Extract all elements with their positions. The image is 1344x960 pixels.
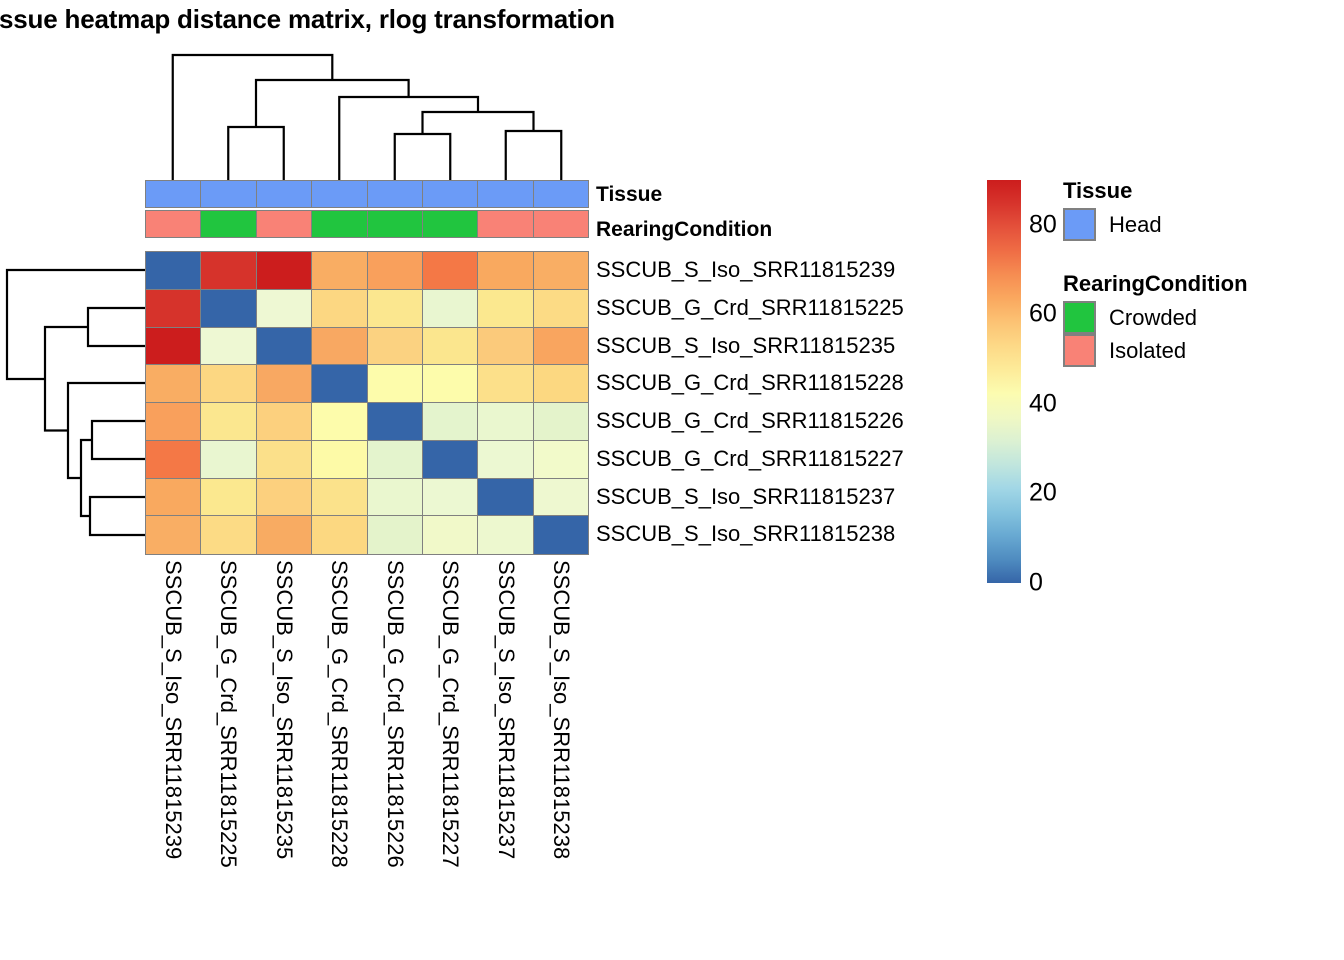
annotation-label-tissue: Tissue — [596, 182, 662, 208]
heatmap-cell — [257, 328, 312, 366]
heatmap-cell — [146, 290, 201, 328]
heatmap-row — [146, 365, 588, 403]
heatmap-cell — [534, 365, 588, 403]
row-label: SSCUB_G_Crd_SRR11815225 — [596, 289, 996, 327]
heatmap-cell — [312, 328, 367, 366]
column-dendrogram — [145, 52, 591, 180]
heatmap-cell — [201, 252, 256, 290]
heatmap-cell — [368, 479, 423, 517]
heatmap-cell — [201, 328, 256, 366]
heatmap-cell — [534, 252, 588, 290]
heatmap-cell — [534, 290, 588, 328]
legend-label: Head — [1109, 212, 1162, 238]
column-label-slot: SSCUB_S_Iso_SRR11815239 — [145, 556, 201, 956]
column-label: SSCUB_S_Iso_SRR11815235 — [271, 560, 297, 859]
annotation-cell-rearing-condition — [534, 211, 588, 237]
heatmap-row — [146, 290, 588, 328]
heatmap-cell — [534, 328, 588, 366]
heatmap-cell — [201, 479, 256, 517]
column-label-slot: SSCUB_G_Crd_SRR11815225 — [201, 556, 257, 956]
column-label-slot: SSCUB_G_Crd_SRR11815228 — [312, 556, 368, 956]
heatmap-cell — [257, 252, 312, 290]
heatmap-cell — [312, 365, 367, 403]
heatmap-cell — [534, 403, 588, 441]
heatmap-cell — [312, 479, 367, 517]
heatmap-matrix — [145, 251, 589, 555]
legend-swatch — [1063, 208, 1096, 241]
annotation-cell-tissue — [534, 181, 588, 207]
legend-title: RearingCondition — [1063, 271, 1333, 297]
heatmap-cell — [146, 365, 201, 403]
heatmap-cell — [368, 365, 423, 403]
heatmap-cell — [257, 403, 312, 441]
annotation-cell-tissue — [312, 181, 367, 207]
annotation-cell-rearing-condition — [312, 211, 367, 237]
annotation-cell-tissue — [201, 181, 256, 207]
heatmap-cell — [146, 328, 201, 366]
heatmap-cell — [257, 290, 312, 328]
legend-label: Crowded — [1109, 305, 1197, 331]
heatmap-cell — [478, 290, 533, 328]
column-label-slot: SSCUB_G_Crd_SRR11815226 — [367, 556, 423, 956]
heatmap-cell — [201, 365, 256, 403]
heatmap-cell — [312, 252, 367, 290]
column-label: SSCUB_S_Iso_SRR11815239 — [160, 560, 186, 859]
colorbar-tick-label: 40 — [1029, 389, 1057, 418]
heatmap-cell — [478, 479, 533, 517]
heatmap-row — [146, 516, 588, 554]
heatmap-row — [146, 252, 588, 290]
legend-entry: Isolated — [1063, 334, 1333, 367]
heatmap-figure: issue heatmap distance matrix, rlog tran… — [0, 0, 1344, 960]
column-label-slot: SSCUB_G_Crd_SRR11815227 — [423, 556, 479, 956]
legend-swatch — [1063, 301, 1096, 334]
colorbar-gradient — [987, 180, 1021, 583]
column-label: SSCUB_S_Iso_SRR11815237 — [493, 560, 519, 859]
heatmap-cell — [201, 290, 256, 328]
column-label-slot: SSCUB_S_Iso_SRR11815238 — [534, 556, 590, 956]
heatmap-cell — [423, 252, 478, 290]
annotation-bars — [145, 180, 589, 240]
legend-title: Tissue — [1063, 178, 1333, 204]
column-label-slot: SSCUB_S_Iso_SRR11815237 — [478, 556, 534, 956]
heatmap-cell — [146, 403, 201, 441]
row-label: SSCUB_S_Iso_SRR11815237 — [596, 478, 996, 516]
annotation-row-tissue — [145, 180, 589, 208]
heatmap-cell — [146, 516, 201, 554]
heatmap-row — [146, 328, 588, 366]
column-label: SSCUB_S_Iso_SRR11815238 — [548, 560, 574, 859]
heatmap-cell — [368, 290, 423, 328]
heatmap-cell — [312, 516, 367, 554]
row-dendrogram — [2, 251, 145, 555]
annotation-cell-rearing-condition — [423, 211, 478, 237]
annotation-cell-tissue — [368, 181, 423, 207]
row-label: SSCUB_S_Iso_SRR11815238 — [596, 515, 996, 553]
heatmap-cell — [423, 365, 478, 403]
heatmap-cell — [478, 252, 533, 290]
row-label: SSCUB_S_Iso_SRR11815235 — [596, 327, 996, 365]
annotation-cell-tissue — [257, 181, 312, 207]
legend-label: Isolated — [1109, 338, 1186, 364]
heatmap-cell — [423, 441, 478, 479]
annotation-cell-rearing-condition — [201, 211, 256, 237]
heatmap-cell — [423, 479, 478, 517]
legend-block: TissueHeadRearingConditionCrowdedIsolate… — [1063, 178, 1333, 367]
annotation-cell-rearing-condition — [478, 211, 533, 237]
heatmap-cell — [146, 441, 201, 479]
heatmap-cell — [478, 328, 533, 366]
column-label: SSCUB_G_Crd_SRR11815228 — [326, 560, 352, 868]
heatmap-cell — [257, 441, 312, 479]
row-label: SSCUB_S_Iso_SRR11815239 — [596, 251, 996, 289]
heatmap-cell — [534, 441, 588, 479]
heatmap-cell — [201, 403, 256, 441]
heatmap-cell — [312, 290, 367, 328]
heatmap-cell — [201, 516, 256, 554]
legend-entry: Head — [1063, 208, 1333, 241]
row-label-list: SSCUB_S_Iso_SRR11815239SSCUB_G_Crd_SRR11… — [596, 251, 996, 553]
colorbar-tick-label: 60 — [1029, 300, 1057, 329]
heatmap-cell — [368, 252, 423, 290]
heatmap-cell — [478, 403, 533, 441]
heatmap-cell — [534, 516, 588, 554]
page-title: issue heatmap distance matrix, rlog tran… — [0, 2, 615, 36]
heatmap-cell — [368, 441, 423, 479]
heatmap-row — [146, 403, 588, 441]
column-label-list: SSCUB_S_Iso_SRR11815239SSCUB_G_Crd_SRR11… — [145, 556, 589, 956]
column-label: SSCUB_G_Crd_SRR11815225 — [215, 560, 241, 868]
heatmap-cell — [257, 479, 312, 517]
annotation-cell-tissue — [146, 181, 201, 207]
annotation-cell-rearing-condition — [146, 211, 201, 237]
column-label: SSCUB_G_Crd_SRR11815226 — [382, 560, 408, 868]
row-label: SSCUB_G_Crd_SRR11815228 — [596, 364, 996, 402]
legend-entry: Crowded — [1063, 301, 1333, 334]
annotation-row-rearing-condition — [145, 210, 589, 238]
heatmap-cell — [368, 328, 423, 366]
colorbar-legend: 806040200 — [987, 180, 1021, 583]
heatmap-cell — [478, 516, 533, 554]
heatmap-row — [146, 479, 588, 517]
annotation-cell-tissue — [478, 181, 533, 207]
row-label: SSCUB_G_Crd_SRR11815226 — [596, 402, 996, 440]
colorbar-tick-label: 0 — [1029, 569, 1043, 598]
legend-swatch — [1063, 334, 1096, 367]
column-label: SSCUB_G_Crd_SRR11815227 — [437, 560, 463, 868]
heatmap-cell — [478, 365, 533, 403]
heatmap-cell — [368, 403, 423, 441]
colorbar-tick-label: 20 — [1029, 479, 1057, 508]
heatmap-cell — [312, 441, 367, 479]
annotation-cell-tissue — [423, 181, 478, 207]
colorbar-tick-label: 80 — [1029, 210, 1057, 239]
heatmap-cell — [146, 479, 201, 517]
annotation-label-rearing-condition: RearingCondition — [596, 217, 772, 243]
heatmap-cell — [423, 290, 478, 328]
heatmap-cell — [423, 516, 478, 554]
heatmap-row — [146, 441, 588, 479]
row-label: SSCUB_G_Crd_SRR11815227 — [596, 440, 996, 478]
heatmap-cell — [201, 441, 256, 479]
heatmap-cell — [257, 365, 312, 403]
heatmap-cell — [257, 516, 312, 554]
heatmap-cell — [534, 479, 588, 517]
heatmap-cell — [146, 252, 201, 290]
column-label-slot: SSCUB_S_Iso_SRR11815235 — [256, 556, 312, 956]
heatmap-cell — [478, 441, 533, 479]
annotation-cell-rearing-condition — [368, 211, 423, 237]
heatmap-cell — [423, 403, 478, 441]
heatmap-cell — [368, 516, 423, 554]
legend-spacer — [1063, 241, 1333, 271]
heatmap-cell — [312, 403, 367, 441]
heatmap-cell — [423, 328, 478, 366]
annotation-cell-rearing-condition — [257, 211, 312, 237]
